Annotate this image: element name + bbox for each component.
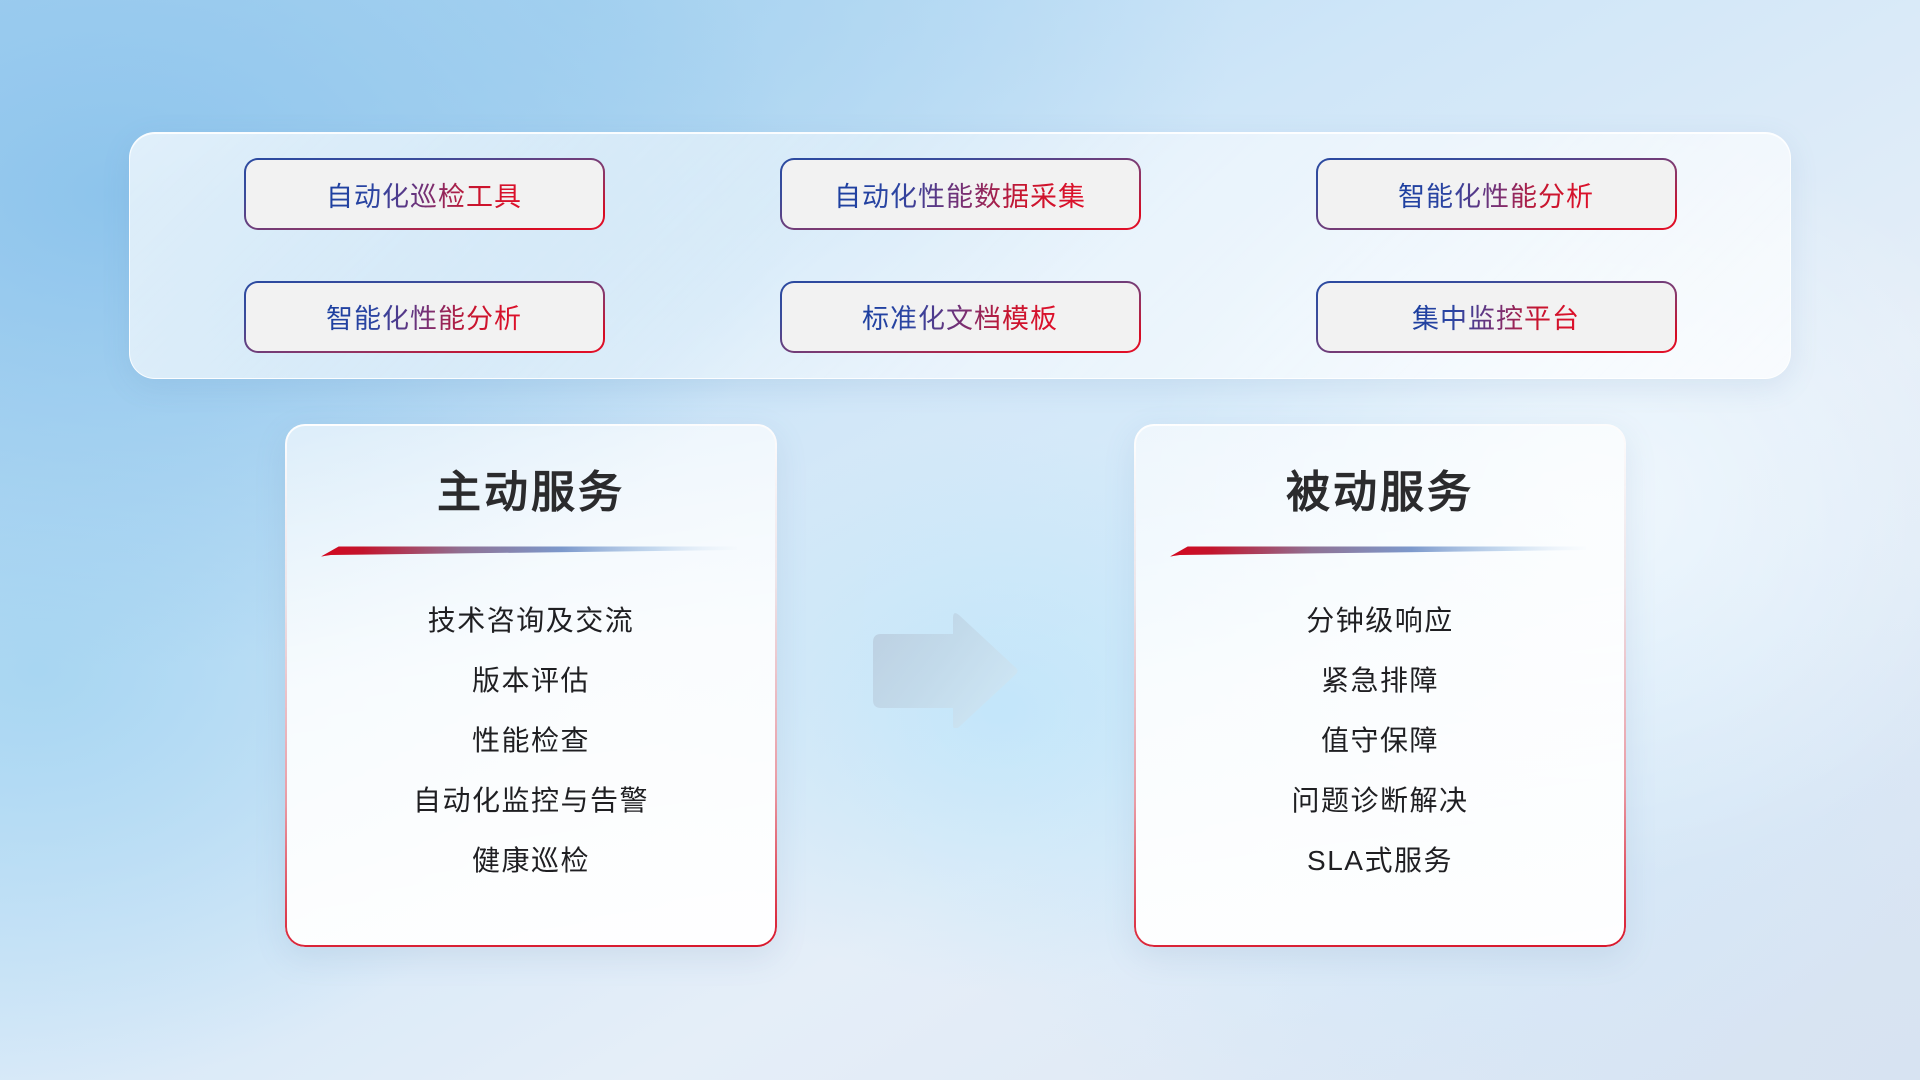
service-list-item: 健康巡检: [319, 831, 743, 891]
capability-tag-chip[interactable]: 标准化文档模板: [782, 283, 1139, 351]
capability-tag-chip[interactable]: 自动化巡检工具: [246, 160, 603, 228]
service-card-reactive: 被动服务 分钟级响应 紧急排障 值守保障 问题诊断解决 SLA式服务: [1134, 424, 1626, 947]
arrow-right-icon: [865, 610, 1020, 728]
capability-tag-label: 智能化性能分析: [1398, 175, 1594, 214]
capability-tags-panel: 自动化巡检工具 自动化性能数据采集 智能化性能分析 智能化性能分析 标准化文档模…: [129, 132, 1791, 379]
capability-tag-chip[interactable]: 智能化性能分析: [246, 283, 603, 351]
capability-tag-label: 集中监控平台: [1412, 297, 1580, 336]
service-list-item: 性能检查: [319, 711, 743, 771]
card-divider: [1170, 546, 1586, 557]
card-title: 主动服务: [319, 468, 743, 519]
service-list-item: 问题诊断解决: [1168, 771, 1592, 831]
service-list-item: 自动化监控与告警: [319, 771, 743, 831]
service-list-item: 分钟级响应: [1168, 591, 1592, 651]
capability-tag-chip[interactable]: 自动化性能数据采集: [782, 160, 1139, 228]
service-list-item: SLA式服务: [1168, 831, 1592, 891]
service-item-list: 分钟级响应 紧急排障 值守保障 问题诊断解决 SLA式服务: [1168, 557, 1592, 891]
capability-tag-chip[interactable]: 集中监控平台: [1318, 283, 1675, 351]
capability-tag-label: 自动化巡检工具: [326, 175, 522, 214]
service-list-item: 紧急排障: [1168, 651, 1592, 711]
capability-tag-label: 智能化性能分析: [326, 297, 522, 336]
service-item-list: 技术咨询及交流 版本评估 性能检查 自动化监控与告警 健康巡检: [319, 557, 743, 891]
service-list-item: 值守保障: [1168, 711, 1592, 771]
card-divider: [321, 546, 737, 557]
capability-tag-label: 自动化性能数据采集: [834, 175, 1086, 214]
service-list-item: 版本评估: [319, 651, 743, 711]
capability-tag-chip[interactable]: 智能化性能分析: [1318, 160, 1675, 228]
service-card-proactive: 主动服务 技术咨询及交流 版本评估 性能检查 自动化监控与告警 健康巡检: [285, 424, 777, 947]
card-title: 被动服务: [1168, 468, 1592, 519]
capability-tag-label: 标准化文档模板: [862, 297, 1058, 336]
service-list-item: 技术咨询及交流: [319, 591, 743, 651]
